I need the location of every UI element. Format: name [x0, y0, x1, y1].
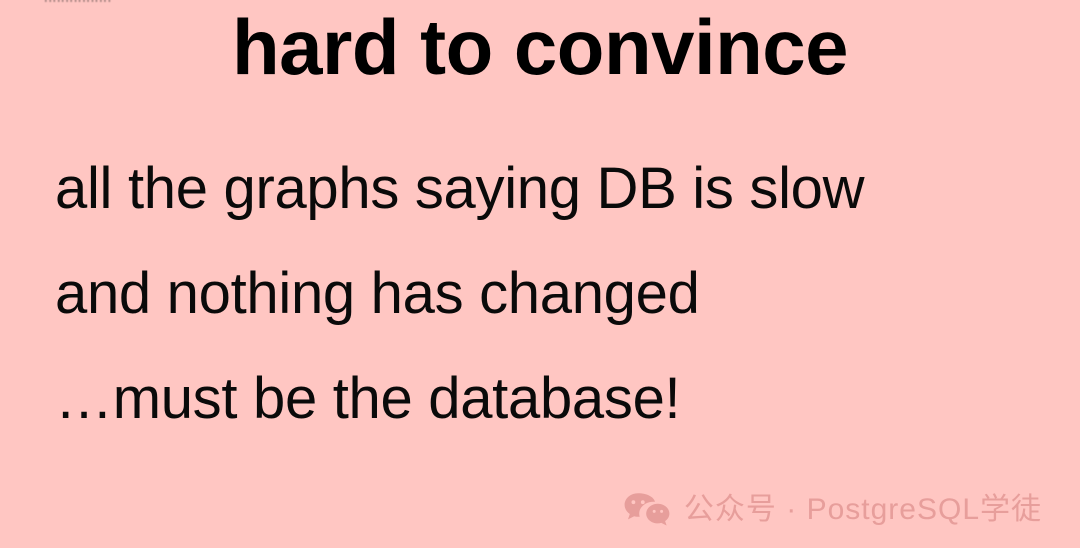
watermark: 公众号 · PostgreSQL学徒: [624, 492, 1042, 530]
slide-body: all the graphs saying DB is slow and not…: [55, 136, 1015, 451]
body-line-3: …must be the database!: [55, 346, 1015, 451]
body-line-1: all the graphs saying DB is slow: [55, 136, 1015, 241]
body-line-2: and nothing has changed: [55, 241, 1015, 346]
wechat-icon: [624, 492, 670, 530]
watermark-label: 公众号 · PostgreSQL学徒: [684, 495, 1042, 527]
slide-canvas: nnnnnnnn hard to convince all the graphs…: [0, 0, 1080, 548]
slide-headline: hard to convince: [0, 5, 1080, 91]
